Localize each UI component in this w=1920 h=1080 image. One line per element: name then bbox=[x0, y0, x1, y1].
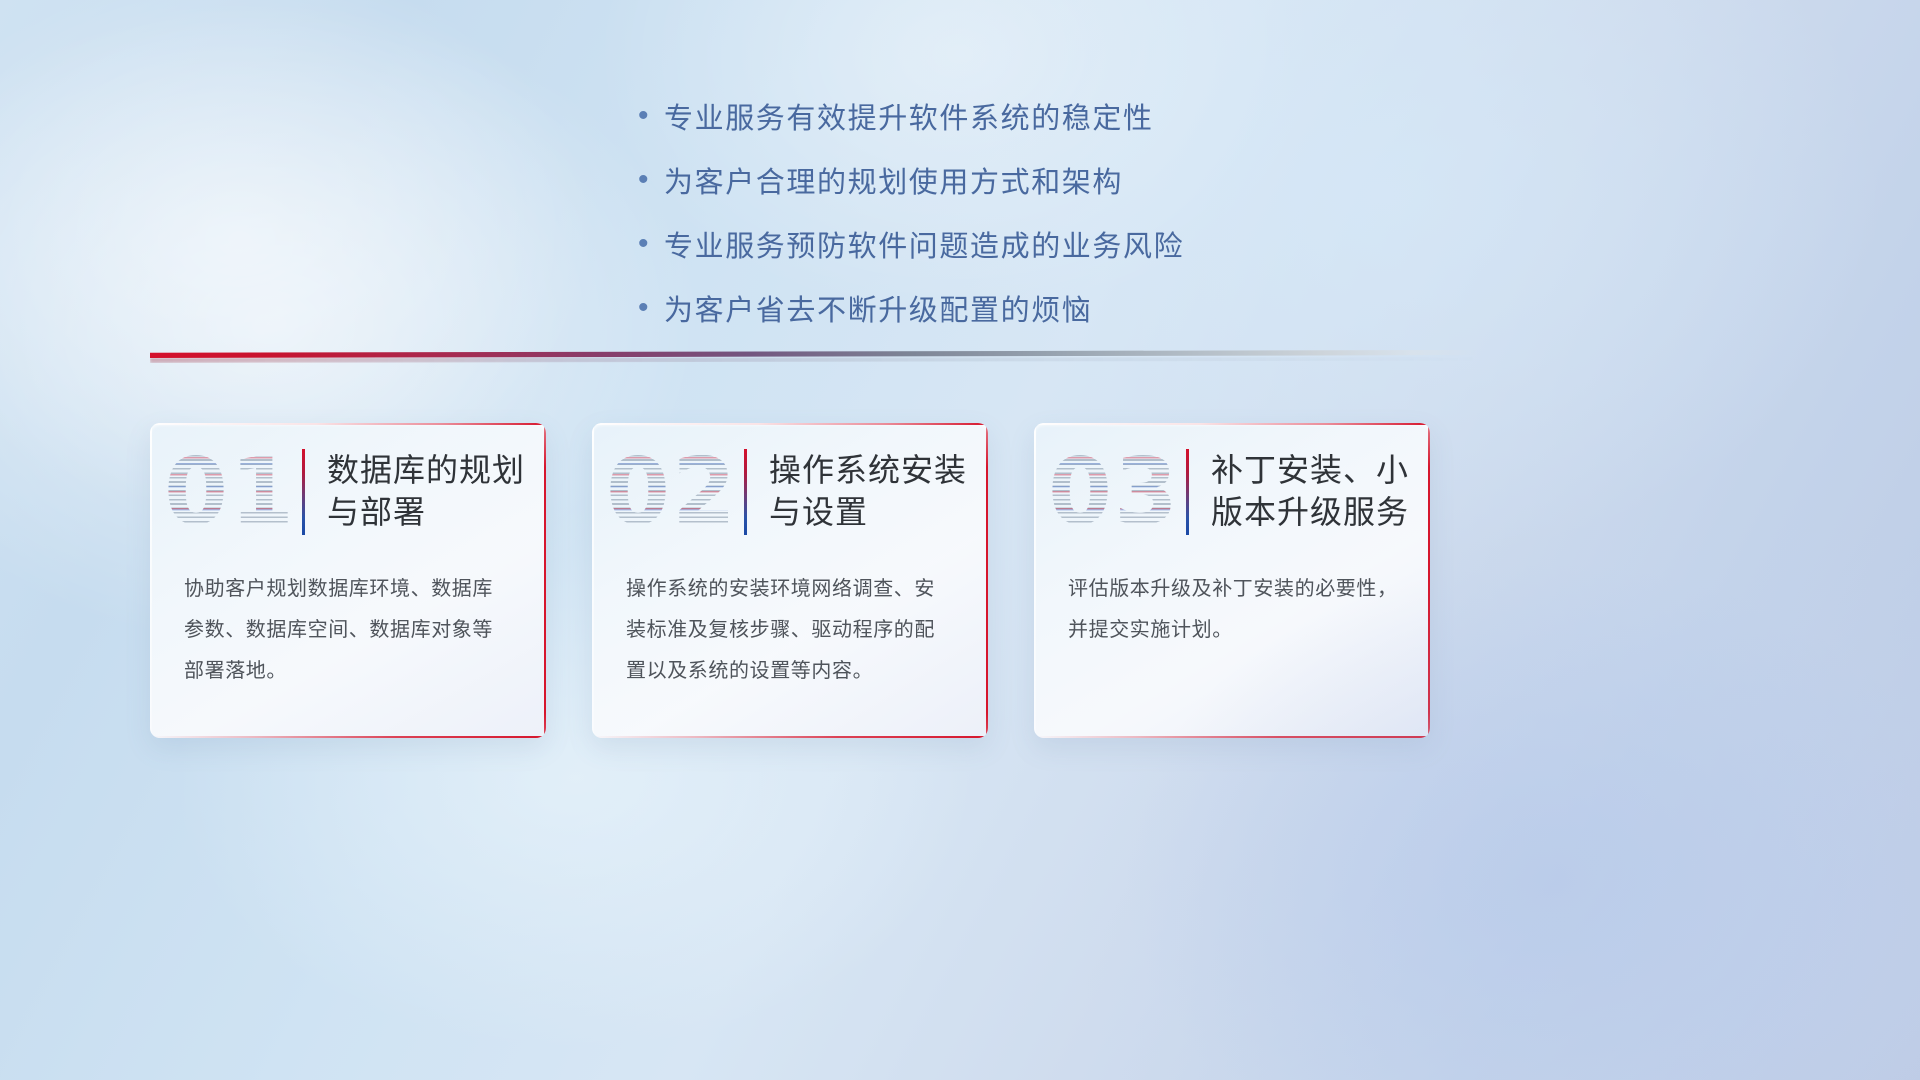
bullet-dot-icon: • bbox=[630, 165, 664, 195]
card-number-text: 03 bbox=[1048, 446, 1180, 538]
card-title-rule bbox=[744, 449, 747, 535]
card-number-badge: 03 03 03 bbox=[1050, 440, 1178, 544]
feature-card-03[interactable]: 03 03 03 补丁安装、小 版本升级服务 评估版本升级及补丁安装的必要性， … bbox=[1034, 423, 1430, 738]
card-title: 数据库的规划 与部署 bbox=[327, 450, 531, 533]
list-item: • 专业服务预防软件问题造成的业务风险 bbox=[630, 212, 1290, 276]
bullet-text: 专业服务有效提升软件系统的稳定性 bbox=[664, 95, 1154, 137]
card-bottom-accent bbox=[592, 736, 988, 739]
divider-shadow bbox=[150, 357, 1480, 363]
card-number-text: 01 bbox=[164, 446, 296, 538]
card-title-rule bbox=[1186, 449, 1189, 535]
bullet-dot-icon: • bbox=[630, 101, 664, 131]
card-body-text: 协助客户规划数据库环境、数据库 参数、数据库空间、数据库对象等 部署落地。 bbox=[150, 569, 546, 692]
feature-card-group: 01 01 01 数据库的规划 与部署 协助客户规划数据库环境、数据库 参数、数… bbox=[150, 423, 1430, 738]
card-title-rule bbox=[302, 449, 305, 535]
list-item: • 为客户省去不断升级配置的烦恼 bbox=[630, 276, 1290, 340]
card-bottom-accent bbox=[150, 736, 546, 739]
card-header: 03 03 03 补丁安装、小 版本升级服务 bbox=[1034, 423, 1430, 561]
bullet-text: 为客户合理的规划使用方式和架构 bbox=[664, 159, 1123, 201]
bullet-text: 为客户省去不断升级配置的烦恼 bbox=[664, 287, 1092, 329]
bullet-dot-icon: • bbox=[630, 229, 664, 259]
section-divider bbox=[150, 344, 1480, 366]
card-header: 01 01 01 数据库的规划 与部署 bbox=[150, 423, 546, 561]
bullet-text: 专业服务预防软件问题造成的业务风险 bbox=[664, 223, 1184, 265]
card-number-badge: 01 01 01 bbox=[166, 440, 294, 544]
card-body-text: 操作系统的安装环境网络调查、安 装标准及复核步骤、驱动程序的配 置以及系统的设置… bbox=[592, 569, 988, 692]
list-item: • 为客户合理的规划使用方式和架构 bbox=[630, 148, 1290, 212]
divider-bar bbox=[150, 350, 1480, 358]
card-number-text: 02 bbox=[606, 446, 738, 538]
bullet-list: • 专业服务有效提升软件系统的稳定性 • 为客户合理的规划使用方式和架构 • 专… bbox=[0, 84, 1920, 340]
slide-canvas: • 专业服务有效提升软件系统的稳定性 • 为客户合理的规划使用方式和架构 • 专… bbox=[0, 0, 1920, 1080]
bullet-dot-icon: • bbox=[630, 293, 664, 323]
card-title: 操作系统安装 与设置 bbox=[769, 450, 973, 533]
list-item: • 专业服务有效提升软件系统的稳定性 bbox=[630, 84, 1290, 148]
feature-card-02[interactable]: 02 02 02 操作系统安装 与设置 操作系统的安装环境网络调查、安 装标准及… bbox=[592, 423, 988, 738]
card-header: 02 02 02 操作系统安装 与设置 bbox=[592, 423, 988, 561]
card-body-text: 评估版本升级及补丁安装的必要性， 并提交实施计划。 bbox=[1034, 569, 1430, 651]
card-bottom-accent bbox=[1034, 736, 1430, 739]
card-number-badge: 02 02 02 bbox=[608, 440, 736, 544]
feature-card-01[interactable]: 01 01 01 数据库的规划 与部署 协助客户规划数据库环境、数据库 参数、数… bbox=[150, 423, 546, 738]
card-title: 补丁安装、小 版本升级服务 bbox=[1211, 450, 1415, 533]
